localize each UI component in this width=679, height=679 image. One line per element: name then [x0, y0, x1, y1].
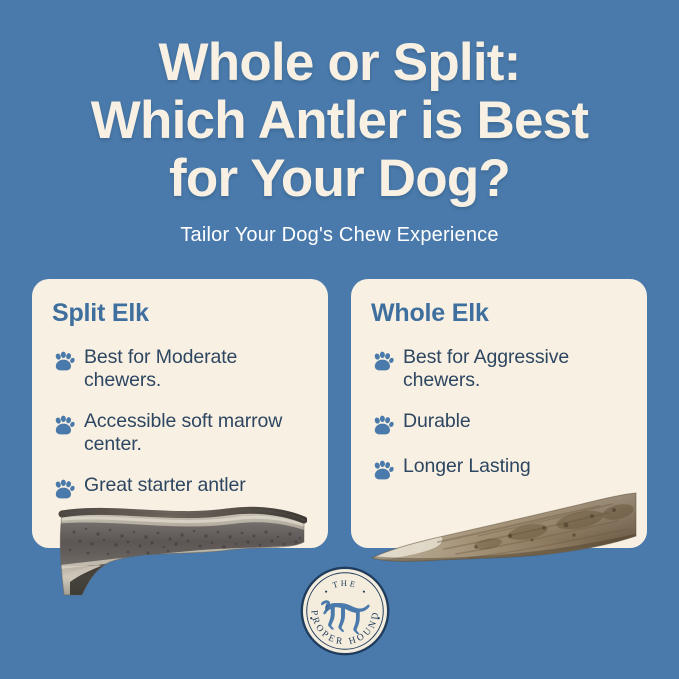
feature-list-whole-elk: Best for Aggressive chewers. Durable	[371, 346, 629, 482]
list-item: Longer Lasting	[371, 455, 629, 482]
infographic-poster: Whole or Split: Which Antler is Best for…	[0, 0, 679, 679]
card-title-whole-elk: Whole Elk	[371, 299, 629, 328]
list-item-label: Best for Moderate chewers.	[84, 346, 310, 392]
feature-list-split-elk: Best for Moderate chewers. Accessible so…	[52, 346, 310, 501]
paw-print-icon	[371, 458, 395, 482]
list-item: Best for Moderate chewers.	[52, 346, 310, 392]
paw-print-icon	[52, 477, 76, 501]
comparison-cards: Split Elk Best for Moderate chewers.	[32, 279, 647, 548]
page-subtitle: Tailor Your Dog's Chew Experience	[0, 222, 679, 248]
paw-print-icon	[52, 413, 76, 437]
title-line-2: Which Antler is Best	[24, 92, 655, 150]
list-item: Best for Aggressive chewers.	[371, 346, 629, 392]
page-title: Whole or Split: Which Antler is Best for…	[0, 34, 679, 208]
header: Whole or Split: Which Antler is Best for…	[0, 34, 679, 248]
paw-print-icon	[52, 349, 76, 373]
list-item-label: Great starter antler	[84, 474, 246, 497]
paw-print-icon	[371, 349, 395, 373]
list-item-label: Longer Lasting	[403, 455, 531, 478]
list-item: Accessible soft marrow center.	[52, 410, 310, 456]
list-item-label: Durable	[403, 410, 471, 433]
card-split-elk: Split Elk Best for Moderate chewers.	[32, 279, 328, 548]
card-title-split-elk: Split Elk	[52, 299, 310, 328]
title-line-1: Whole or Split:	[24, 34, 655, 92]
list-item: Durable	[371, 410, 629, 437]
brand-logo: THE PROPER HOUND	[300, 566, 390, 656]
card-whole-elk: Whole Elk Best for Aggressive chewers.	[351, 279, 647, 548]
list-item-label: Best for Aggressive chewers.	[403, 346, 629, 392]
paw-print-icon	[371, 413, 395, 437]
list-item: Great starter antler	[52, 474, 310, 501]
list-item-label: Accessible soft marrow center.	[84, 410, 310, 456]
title-line-3: for Your Dog?	[24, 150, 655, 208]
